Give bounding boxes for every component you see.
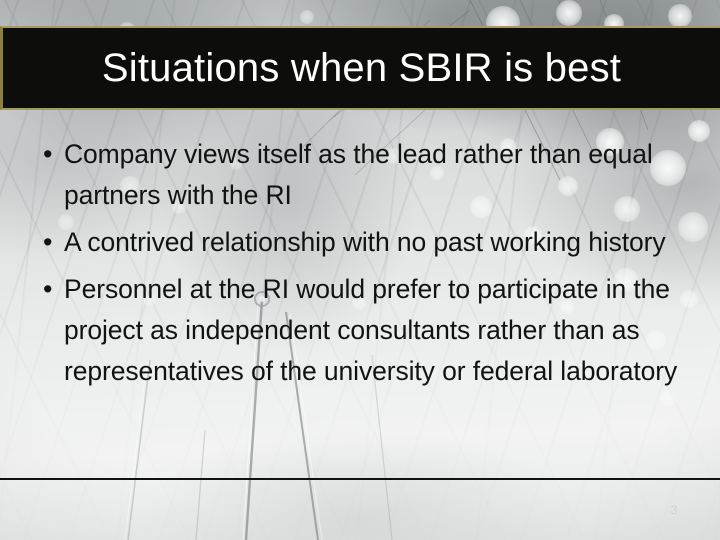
- page-title: Situations when SBIR is best: [102, 47, 621, 89]
- presentation-slide: Situations when SBIR is best • Company v…: [0, 0, 720, 540]
- slide-title-bar: Situations when SBIR is best: [0, 26, 720, 110]
- bullet-text: Company views itself as the lead rather …: [64, 134, 686, 216]
- bullet-text: Personnel at the RI would prefer to part…: [64, 269, 686, 392]
- slide-body-content: • Company views itself as the lead rathe…: [38, 134, 686, 398]
- list-item: • Personnel at the RI would prefer to pa…: [38, 269, 686, 392]
- page-number: 3: [660, 503, 688, 517]
- bullet-point-icon: •: [38, 134, 64, 175]
- list-item: • A contrived relationship with no past …: [38, 222, 686, 263]
- bullet-point-icon: •: [38, 222, 64, 263]
- list-item: • Company views itself as the lead rathe…: [38, 134, 686, 216]
- bullet-text: A contrived relationship with no past wo…: [64, 222, 686, 263]
- footer-divider: [0, 478, 720, 480]
- bullet-point-icon: •: [38, 269, 64, 310]
